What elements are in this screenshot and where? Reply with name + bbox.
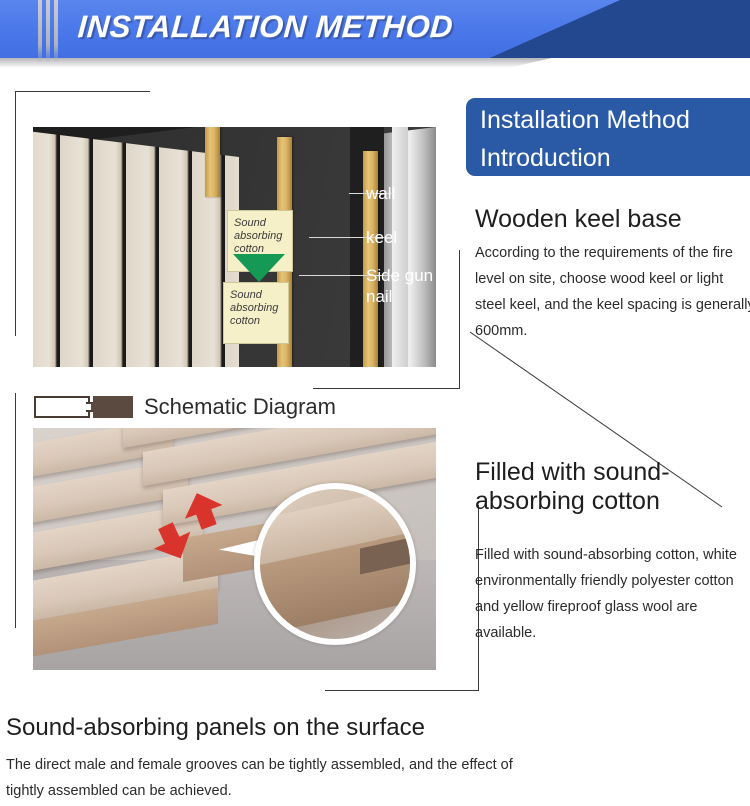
intro-badge-line1: Installation Method xyxy=(480,101,750,139)
tongue-and-groove-joint-icon xyxy=(34,396,133,418)
magnifier-circle-callout xyxy=(254,483,416,645)
installation-method-page: INSTALLATION METHOD Sound absorbing cott… xyxy=(0,0,750,806)
intro-badge: Installation Method Introduction xyxy=(466,98,750,176)
section-body-wooden-keel-base: According to the requirements of the fir… xyxy=(475,240,750,344)
grooved-panels-photo xyxy=(33,428,436,670)
cotton-block-2: Sound absorbing cotton xyxy=(223,282,289,344)
green-triangle-marker-icon xyxy=(233,254,285,282)
schematic-diagram-label: Schematic Diagram xyxy=(144,394,336,420)
section-title-surface-panels: Sound-absorbing panels on the surface xyxy=(6,714,425,742)
section-title-filled-with-cotton: Filled with sound-absorbing cotton xyxy=(475,458,705,516)
wall-cross-section-photo: Sound absorbing cotton Sound absorbing c… xyxy=(33,127,436,367)
annotation-side-gun-nail: Side gun nail xyxy=(366,265,436,307)
red-arrow-icon xyxy=(133,520,213,590)
keel-baton-1 xyxy=(205,127,220,197)
annotation-wall: wall xyxy=(366,183,395,204)
section-body-filled-with-cotton: Filled with sound-absorbing cotton, whit… xyxy=(475,542,745,646)
cotton-block-1-label: Sound absorbing cotton xyxy=(234,217,282,255)
annotation-keel: keel xyxy=(366,227,397,248)
intro-badge-line2: Introduction xyxy=(480,139,750,177)
cotton-block-2-label: Sound absorbing cotton xyxy=(230,289,278,327)
schematic-diagram-row: Schematic Diagram xyxy=(34,394,336,420)
section-body-surface-panels: The direct male and female grooves can b… xyxy=(6,752,546,804)
section-title-wooden-keel-base: Wooden keel base xyxy=(475,205,682,234)
